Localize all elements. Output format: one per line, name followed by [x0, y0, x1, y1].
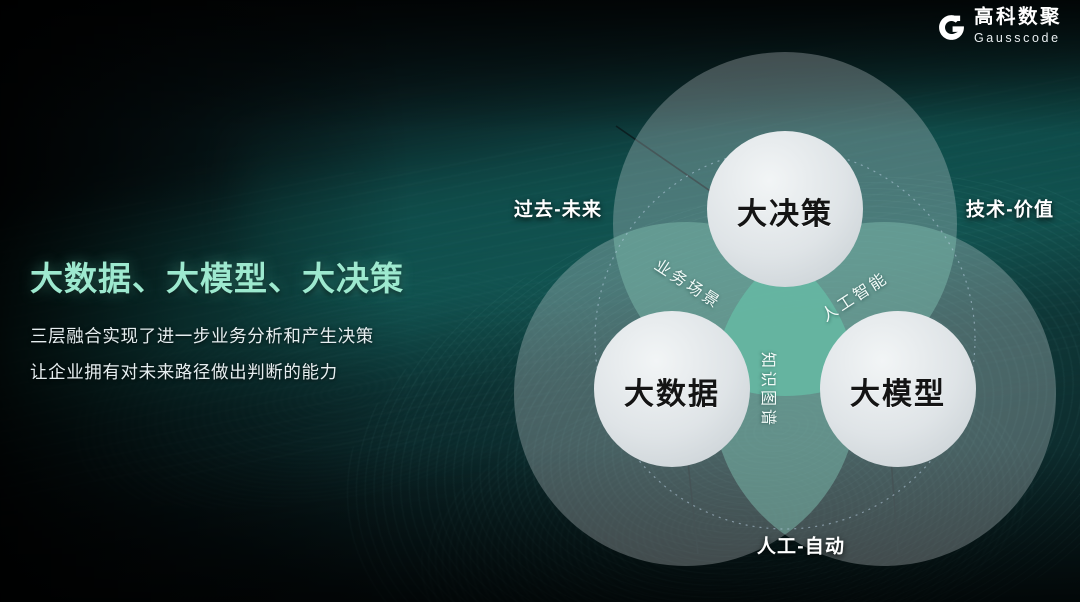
venn-label-model: 大模型: [850, 369, 946, 413]
venn-label-bigdata: 大数据: [624, 369, 720, 413]
venn-graphics: [490, 14, 1080, 574]
subtitle-line-2: 让企业拥有对未来路径做出判断的能力: [30, 354, 460, 390]
page-title: 大数据、大模型、大决策: [30, 252, 460, 300]
copy-block: 大数据、大模型、大决策 三层融合实现了进一步业务分析和产生决策 让企业拥有对未来…: [30, 252, 460, 391]
axis-label-tech-value: 技术-价值: [966, 195, 1054, 222]
venn-diagram: 大决策 大数据 大模型 业务场景 人工智能 知识图谱 过去-未来 技术-价值 人…: [490, 14, 1080, 574]
venn-label-knowledge-graph: 知识图谱: [758, 352, 782, 428]
axis-label-manual-automatic: 人工-自动: [757, 532, 845, 559]
venn-label-decision: 大决策: [737, 189, 833, 233]
slide-canvas: 高科数聚 Gausscode 大数据、大模型、大决策 三层融合实现了进一步业务分…: [0, 0, 1080, 602]
subtitle-block: 三层融合实现了进一步业务分析和产生决策 让企业拥有对未来路径做出判断的能力: [30, 318, 460, 391]
axis-label-past-future: 过去-未来: [514, 195, 602, 222]
subtitle-line-1: 三层融合实现了进一步业务分析和产生决策: [30, 318, 460, 354]
